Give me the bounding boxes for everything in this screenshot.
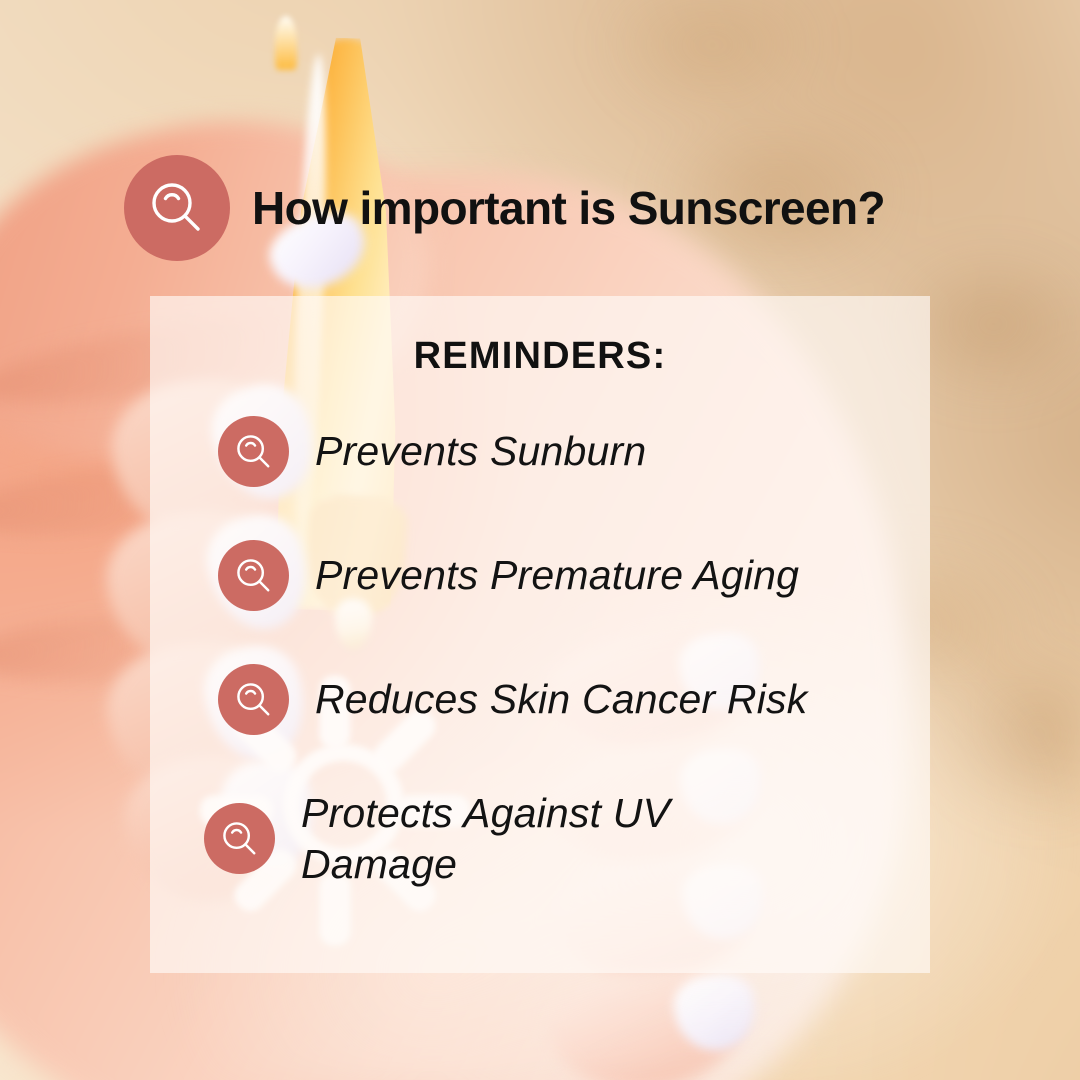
- reminders-heading: REMINDERS:: [150, 335, 930, 378]
- magnifier-icon: [124, 155, 230, 261]
- list-item-label: Prevents Sunburn: [315, 428, 646, 474]
- magnifier-icon: [218, 664, 289, 735]
- list-item-label: Protects Against UV Damage: [301, 790, 670, 887]
- list-item: Protects Against UV Damage: [204, 788, 938, 890]
- magnifier-icon: [204, 803, 275, 874]
- reminders-list: Prevents Sunburn Prevents Premature Agin…: [218, 416, 938, 890]
- list-item: Prevents Sunburn: [218, 416, 938, 487]
- magnifier-icon: [218, 416, 289, 487]
- list-item: Prevents Premature Aging: [218, 540, 938, 611]
- list-item: Reduces Skin Cancer Risk: [218, 664, 938, 735]
- page-header: How important is Sunscreen?: [124, 155, 885, 261]
- list-item-label: Prevents Premature Aging: [315, 552, 799, 598]
- magnifier-icon: [218, 540, 289, 611]
- page-title: How important is Sunscreen?: [252, 185, 885, 231]
- sunscreen-infographic: How important is Sunscreen? REMINDERS: P…: [0, 0, 1080, 1080]
- list-item-label: Reduces Skin Cancer Risk: [315, 676, 807, 722]
